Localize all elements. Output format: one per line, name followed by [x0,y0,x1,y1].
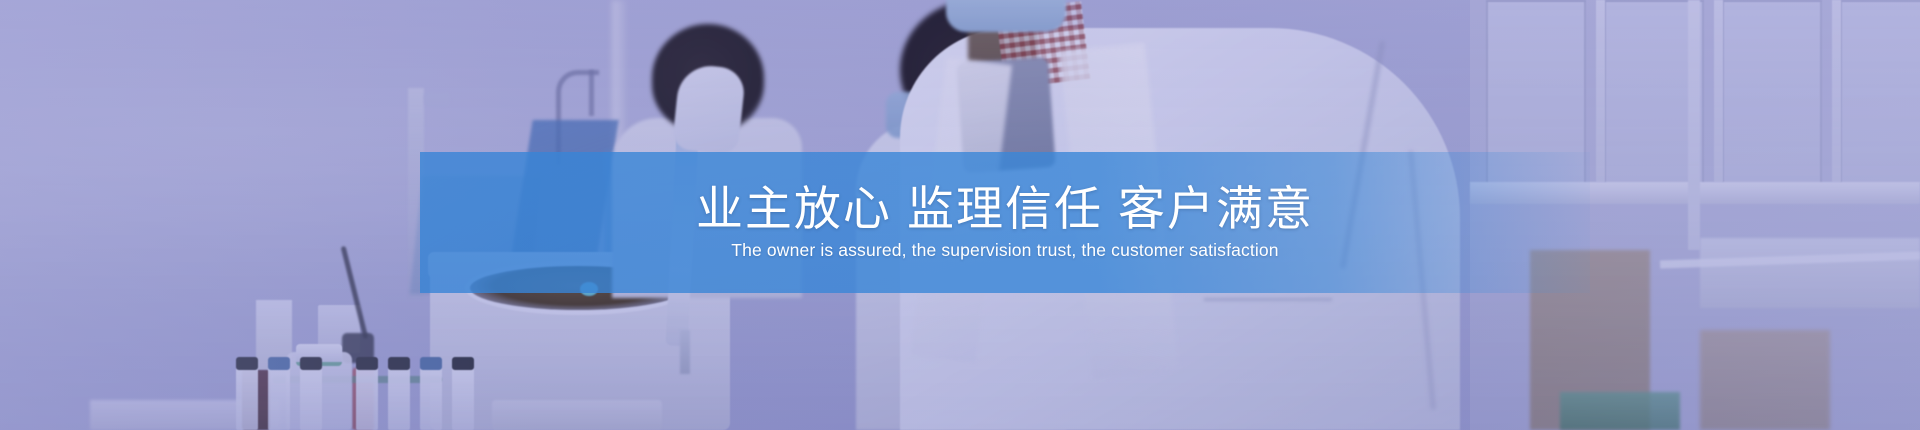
banner-subtitle: The owner is assured, the supervision tr… [731,240,1278,261]
banner-caption: 业主放心 监理信任 客户满意 The owner is assured, the… [420,152,1590,293]
banner-headline: 业主放心 监理信任 客户满意 [696,184,1314,235]
hero-banner: 业主放心 监理信任 客户满意 The owner is assured, the… [0,0,1920,430]
